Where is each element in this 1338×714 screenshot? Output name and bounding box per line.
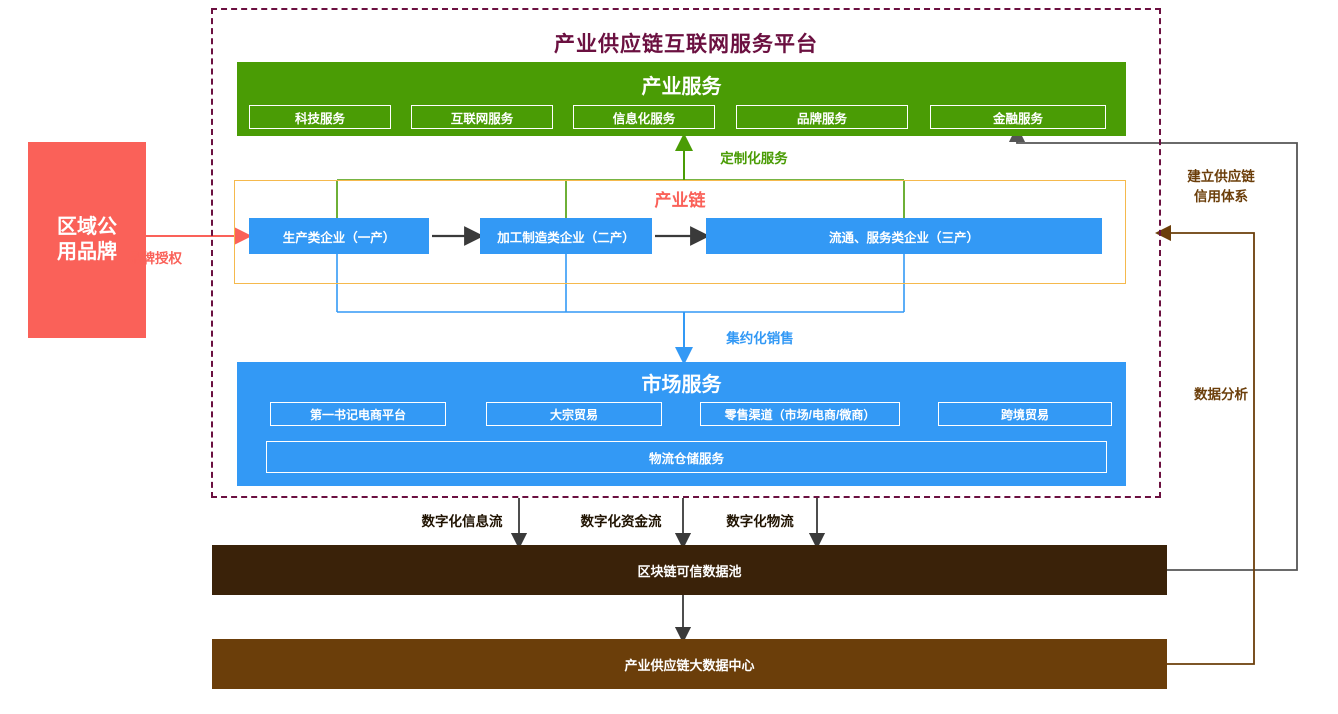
market-chip-cross-border-trade[interactable]: 跨境贸易 xyxy=(938,402,1112,426)
market-chip-ecommerce-platform[interactable]: 第一书记电商平台 xyxy=(270,402,446,426)
brand-title-line1: 区域公 xyxy=(57,215,117,240)
page-title: 产业供应链互联网服务平台 xyxy=(211,26,1161,60)
data-analysis-wire xyxy=(1163,233,1254,664)
chain-node-manufacturing[interactable]: 加工制造类企业（二产） xyxy=(480,218,652,254)
regional-public-brand-box[interactable]: 区域公 用品牌 xyxy=(28,142,146,338)
label-credit-system: 建立供应链 信用体系 xyxy=(1168,167,1274,206)
label-credit-system-line2: 信用体系 xyxy=(1168,187,1274,207)
industry-services-title: 产业服务 xyxy=(237,70,1126,98)
chain-node-circulation[interactable]: 流通、服务类企业（三产） xyxy=(706,218,1102,254)
market-chip-logistics-warehousing[interactable]: 物流仓储服务 xyxy=(266,441,1107,473)
market-chip-bulk-trade[interactable]: 大宗贸易 xyxy=(486,402,662,426)
label-intensive-sales: 集约化销售 xyxy=(700,327,820,347)
chain-node-production[interactable]: 生产类企业（一产） xyxy=(249,218,429,254)
label-digital-fund-flow: 数字化资金流 xyxy=(565,510,677,530)
label-data-analysis: 数据分析 xyxy=(1168,383,1274,403)
diagram-canvas: 产业供应链互联网服务平台 产业服务 科技服务 互联网服务 信息化服务 品牌服务 … xyxy=(0,0,1338,714)
brand-authorization-label: 品牌授权 xyxy=(128,247,224,267)
label-digital-logistics-flow: 数字化物流 xyxy=(704,510,816,530)
industry-chain-label: 产业链 xyxy=(610,186,750,210)
industry-chip-brand[interactable]: 品牌服务 xyxy=(736,105,908,129)
blockchain-data-pool-bar[interactable]: 区块链可信数据池 xyxy=(212,545,1167,595)
industry-chip-informatization[interactable]: 信息化服务 xyxy=(573,105,715,129)
market-chip-retail-channels[interactable]: 零售渠道（市场/电商/微商） xyxy=(700,402,900,426)
market-services-title: 市场服务 xyxy=(237,368,1126,396)
industry-chip-tech[interactable]: 科技服务 xyxy=(249,105,391,129)
label-custom-service: 定制化服务 xyxy=(694,147,814,167)
industry-chip-finance[interactable]: 金融服务 xyxy=(930,105,1106,129)
label-credit-system-line1: 建立供应链 xyxy=(1168,167,1274,187)
label-digital-info-flow: 数字化信息流 xyxy=(406,510,518,530)
industry-chip-internet[interactable]: 互联网服务 xyxy=(411,105,553,129)
bigdata-center-bar[interactable]: 产业供应链大数据中心 xyxy=(212,639,1167,689)
brand-title-line2: 用品牌 xyxy=(57,240,117,265)
